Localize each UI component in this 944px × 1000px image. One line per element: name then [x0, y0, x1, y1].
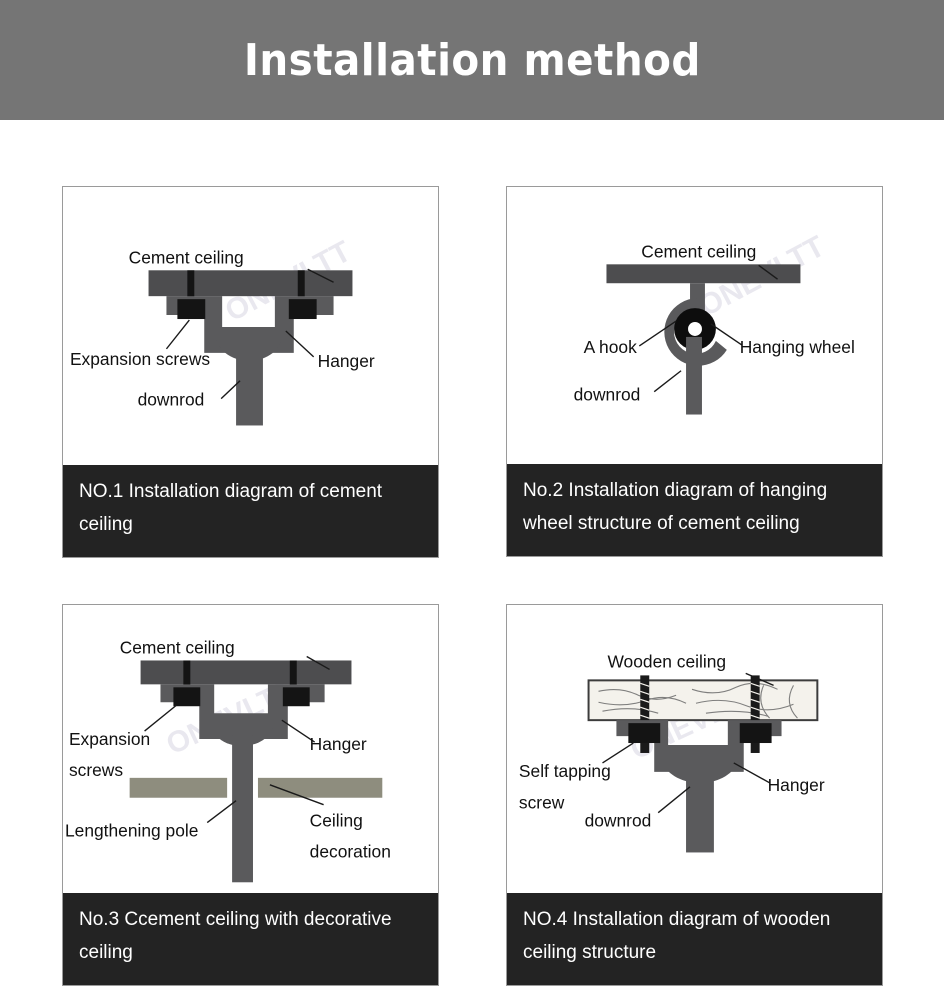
label-cement-ceiling: Cement ceiling: [120, 638, 235, 658]
leader-pole: [207, 801, 236, 823]
caption-no-1: NO.1 Installation diagram of cement ceil…: [63, 465, 438, 557]
lengthening-pole: [232, 735, 253, 882]
label-expansion-line2: screws: [69, 760, 123, 780]
leader-screws: [166, 320, 189, 349]
expansion-screw-head-right: [289, 299, 317, 319]
label-decoration-line1: Ceiling: [310, 811, 363, 831]
installation-panel-grid: ONEVLTT Cement: [0, 120, 944, 1000]
header-banner: Installation method: [0, 0, 944, 120]
leader-hanger: [734, 763, 770, 783]
diagram-decorative-ceiling: ONEVLTT: [63, 605, 438, 893]
label-hanger: Hanger: [310, 734, 367, 754]
panel-no-4: ONEVLTT: [506, 604, 883, 986]
panel-no-2: ONEVLTT Cement ceiling A: [506, 186, 883, 557]
caption-no-3: No.3 Ccement ceiling with decorative cei…: [63, 893, 438, 985]
leader-downrod: [658, 787, 690, 813]
label-cement-ceiling: Cement ceiling: [641, 241, 756, 261]
label-a-hook: A hook: [584, 337, 637, 357]
caption-no-2: No.2 Installation diagram of hanging whe…: [507, 464, 882, 556]
diagram-cement-ceiling: ONEVLTT Cement: [63, 187, 438, 465]
hanging-wheel-hub: [688, 322, 702, 336]
downrod-shaft: [686, 773, 714, 853]
diagram-wooden-ceiling: ONEVLTT: [507, 605, 882, 893]
downrod-shaft: [236, 350, 263, 426]
wooden-beam: [589, 680, 818, 720]
expansion-screw-head-left: [177, 299, 205, 319]
label-cement-ceiling: Cement ceiling: [129, 247, 244, 267]
diagram-hanging-wheel: ONEVLTT Cement ceiling A: [507, 187, 882, 464]
label-hanger: Hanger: [768, 775, 825, 795]
label-downrod: downrod: [138, 390, 205, 410]
label-screw-line1: Self tapping: [519, 761, 611, 781]
label-downrod: downrod: [585, 811, 652, 831]
label-wooden-ceiling: Wooden ceiling: [607, 651, 726, 671]
expansion-screw-head-right: [283, 687, 310, 706]
label-expansion-screws: Expansion screws: [70, 349, 210, 369]
label-lengthening-pole: Lengthening pole: [65, 821, 198, 841]
screw-seat-left: [628, 723, 660, 743]
label-expansion-line1: Expansion: [69, 729, 150, 749]
ceiling-decoration-left: [130, 778, 227, 798]
panel-no-3: ONEVLTT: [62, 604, 439, 986]
label-hanging-wheel: Hanging wheel: [740, 337, 855, 357]
downrod-shaft: [686, 337, 702, 415]
label-downrod: downrod: [574, 385, 641, 405]
page-title: Installation method: [243, 35, 700, 86]
cement-slab: [606, 264, 800, 283]
caption-no-4: NO.4 Installation diagram of wooden ceil…: [507, 893, 882, 985]
label-decoration-line2: decoration: [310, 841, 391, 861]
cement-slab: [149, 270, 353, 296]
label-hanger: Hanger: [318, 351, 375, 371]
expansion-screw-head-left: [173, 687, 200, 706]
leader-downrod: [654, 371, 681, 392]
label-screw-line2: screw: [519, 793, 565, 813]
panel-no-1: ONEVLTT Cement: [62, 186, 439, 558]
screw-seat-right: [740, 723, 772, 743]
